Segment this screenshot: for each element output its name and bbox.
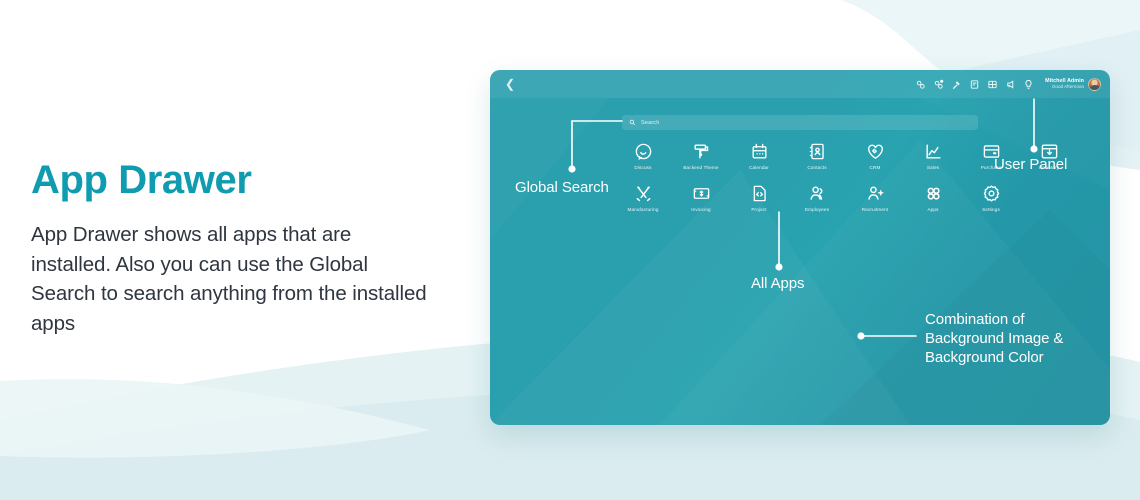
app-label: Invoicing	[691, 207, 710, 212]
app-label: Calendar	[749, 165, 769, 170]
app-label: Sales	[927, 165, 939, 170]
annotation-global-search: Global Search	[515, 178, 609, 197]
copy-block: App Drawer App Drawer shows all apps tha…	[31, 160, 431, 338]
app-label: Project	[751, 207, 766, 212]
debug-bug-icon[interactable]	[951, 79, 962, 90]
lightbulb-icon[interactable]	[1023, 79, 1034, 90]
megaphone-icon[interactable]	[1005, 79, 1016, 90]
page-description: App Drawer shows all apps that are insta…	[31, 220, 431, 338]
annotation-label: User Panel	[994, 155, 1067, 174]
app-label: Settings	[982, 207, 1000, 212]
annotation-label: All Apps	[751, 274, 804, 293]
app-label: Recruitment	[862, 207, 888, 212]
search-icon	[629, 119, 636, 126]
app-item-discuss[interactable]: Discuss	[614, 142, 672, 170]
user-greeting: Good Afternoon	[1045, 84, 1084, 89]
app-item-project[interactable]: Project	[730, 184, 788, 212]
annotation-label: Global Search	[515, 178, 609, 197]
app-item-backend-theme[interactable]: Backend Theme	[672, 142, 730, 170]
app-label: Apps	[927, 207, 938, 212]
app-drawer-panel: ❮	[490, 70, 1110, 425]
users-icon	[808, 184, 827, 203]
annotation-user-panel: User Panel	[994, 155, 1067, 174]
global-search-bar[interactable]: Search	[622, 115, 978, 130]
user-plus-icon	[866, 184, 885, 203]
annotation-background-combo: Combination of Background Image & Backgr…	[925, 310, 1063, 367]
app-label: Employees	[805, 207, 829, 212]
app-label: Contacts	[807, 165, 826, 170]
gear-icon	[982, 184, 1001, 203]
app-item-calendar[interactable]: Calendar	[730, 142, 788, 170]
chevron-left-icon[interactable]: ❮	[505, 78, 515, 90]
app-item-settings[interactable]: Settings	[962, 184, 1020, 212]
app-item-manufacturing[interactable]: Manufacturing	[614, 184, 672, 212]
app-label: CRM	[870, 165, 881, 170]
activities-icon[interactable]	[915, 79, 926, 90]
app-item-apps[interactable]: Apps	[904, 184, 962, 212]
chat-bubble-icon	[634, 142, 653, 161]
search-placeholder: Search	[641, 120, 659, 126]
page-title: App Drawer	[31, 160, 431, 200]
money-bill-icon	[692, 184, 711, 203]
app-label: Discuss	[634, 165, 651, 170]
calendar-icon	[750, 142, 769, 161]
code-file-icon	[750, 184, 769, 203]
user-avatar[interactable]	[1088, 78, 1101, 91]
app-label: Backend Theme	[683, 165, 718, 170]
paint-roller-icon	[692, 142, 711, 161]
print-icon[interactable]	[969, 79, 980, 90]
topbar-right-cluster: Mitchell Admin Good Afternoon	[915, 70, 1101, 98]
panel-topbar: ❮	[490, 70, 1110, 98]
annotation-all-apps: All Apps	[751, 274, 804, 293]
address-book-icon	[808, 142, 827, 161]
app-item-invoicing[interactable]: Invoicing	[672, 184, 730, 212]
app-item-recruitment[interactable]: Recruitment	[846, 184, 904, 212]
user-panel[interactable]: Mitchell Admin Good Afternoon	[1045, 78, 1101, 91]
user-text: Mitchell Admin Good Afternoon	[1045, 78, 1084, 89]
app-item-crm[interactable]: CRM	[846, 142, 904, 170]
app-label: Manufacturing	[627, 207, 658, 212]
app-grid: Discuss Backend Theme	[614, 142, 1078, 212]
line-chart-icon	[924, 142, 943, 161]
app-item-contacts[interactable]: Contacts	[788, 142, 846, 170]
slide-canvas: App Drawer App Drawer shows all apps tha…	[0, 0, 1140, 500]
app-item-sales[interactable]: Sales	[904, 142, 962, 170]
apps-grid-icon[interactable]	[987, 79, 998, 90]
tools-icon	[634, 184, 653, 203]
app-item-employees[interactable]: Employees	[788, 184, 846, 212]
annotation-label: Combination of Background Image & Backgr…	[925, 310, 1063, 367]
heart-handshake-icon	[866, 142, 885, 161]
messages-icon[interactable]	[933, 79, 944, 90]
four-dots-icon	[924, 184, 943, 203]
